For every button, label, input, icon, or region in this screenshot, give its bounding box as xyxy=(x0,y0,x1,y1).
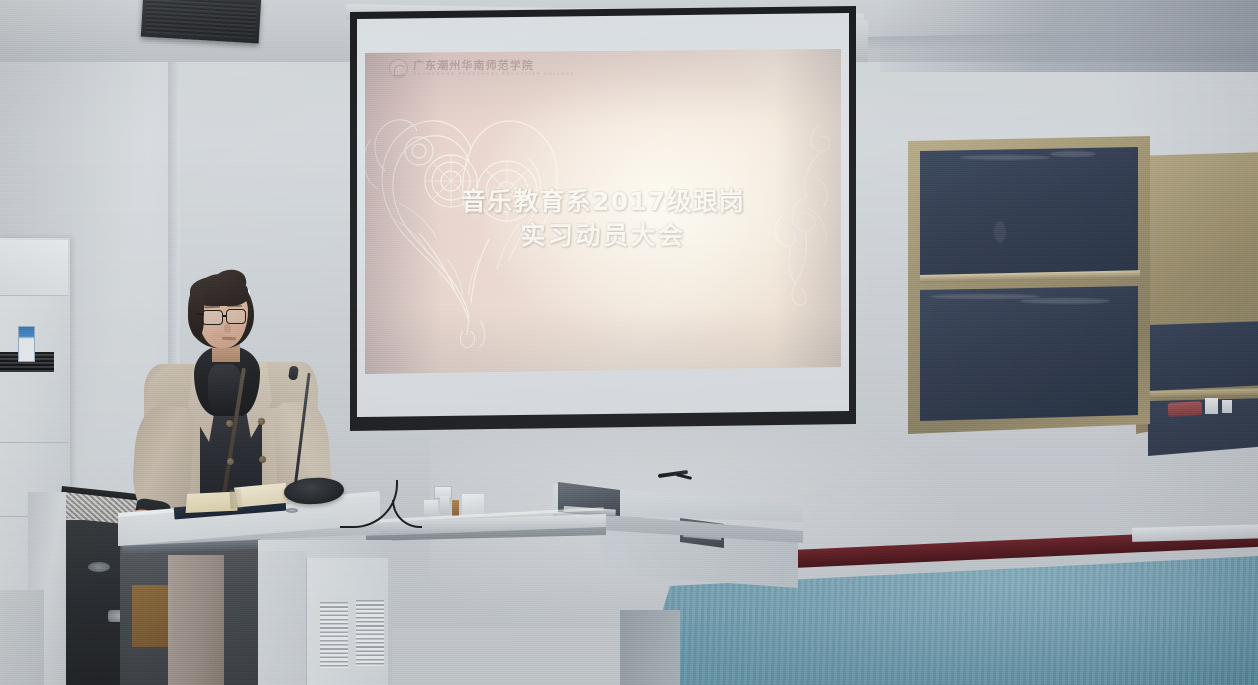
counter-object[interactable] xyxy=(462,494,484,516)
blackboard-eraser-rag[interactable] xyxy=(1168,401,1203,417)
air-conditioner-seam xyxy=(0,442,68,443)
presenter-lower-body xyxy=(168,555,224,685)
projection-screen-surface: 广东潮州华南师范学院 GUANGDONG PRESCHOOL EDUCATION… xyxy=(357,13,849,420)
energy-label xyxy=(18,326,35,362)
blackboard[interactable] xyxy=(908,128,1258,440)
loudspeaker-grille-icon xyxy=(145,0,257,39)
blackboard-panel-upper-right xyxy=(1148,321,1258,391)
lectern-control-knob[interactable] xyxy=(286,508,298,513)
blackboard-panel-lower-left xyxy=(920,286,1138,421)
lectern-vent-louvers-icon xyxy=(320,602,348,668)
coat-button xyxy=(258,418,265,425)
lectern-panel-left[interactable] xyxy=(258,551,306,685)
coat-button xyxy=(259,456,266,463)
eyebrow-right xyxy=(227,305,242,307)
slide-vignette xyxy=(365,49,841,374)
chalk-box[interactable] xyxy=(1205,398,1218,414)
blackboard-panel-upper-left xyxy=(920,147,1138,276)
glasses-lens-left xyxy=(202,310,223,325)
notebook-spine xyxy=(229,489,242,510)
lectern-vent-louvers-icon xyxy=(356,600,384,666)
wooden-object-behind-lectern xyxy=(132,585,172,647)
recess-object xyxy=(88,562,110,572)
chalk-box-small[interactable] xyxy=(1222,400,1232,413)
counter-object[interactable] xyxy=(440,496,449,515)
mouth xyxy=(222,337,236,340)
glasses-bridge xyxy=(222,315,227,317)
nose xyxy=(224,324,231,333)
coat-button xyxy=(227,458,234,465)
coat-button xyxy=(226,420,233,427)
air-conditioner-top-panel xyxy=(0,240,68,296)
counter-object[interactable] xyxy=(424,500,438,516)
classroom-photo-scene: 广东潮州华南师范学院 GUANGDONG PRESCHOOL EDUCATION… xyxy=(0,0,1258,685)
counter-object[interactable] xyxy=(452,500,459,516)
presentation-slide: 广东潮州华南师范学院 GUANGDONG PRESCHOOL EDUCATION… xyxy=(365,49,841,374)
floor-foreground-edge xyxy=(620,610,680,685)
left-wall-base xyxy=(0,590,44,685)
glasses-lens-right xyxy=(226,309,246,324)
